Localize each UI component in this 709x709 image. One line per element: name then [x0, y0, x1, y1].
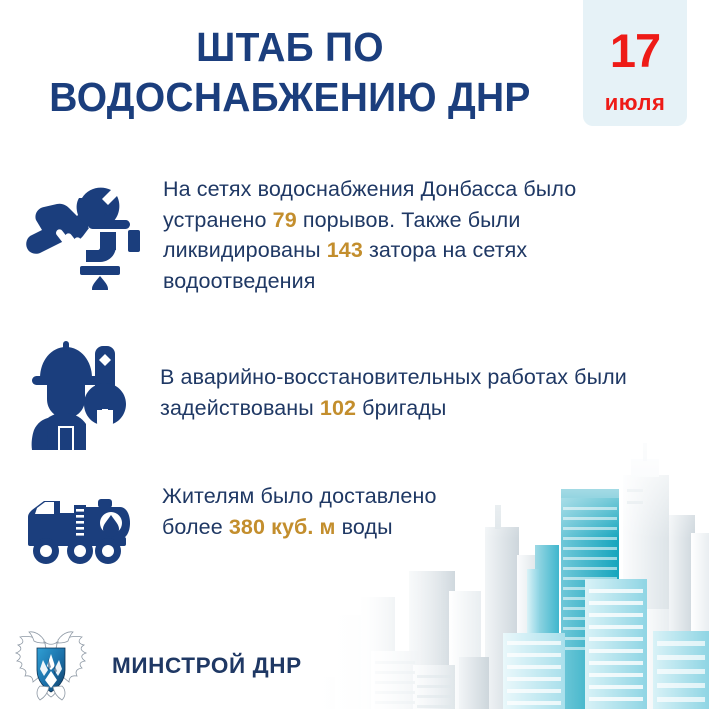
stat-row-brigades: В аварийно-восстановительных работах был… [22, 338, 709, 455]
footer: МИНСТРОЙ ДНР [12, 624, 302, 707]
stat-value: 79 [273, 208, 297, 232]
date-month: июля [583, 92, 687, 114]
dnr-coat-of-arms-icon [12, 624, 90, 707]
page-title-line-1: ШТАБ ПО [15, 22, 566, 72]
hand-wrench-faucet-icon [14, 168, 142, 295]
stat-row-repairs: На сетях водоснабжения Донбасса было уст… [14, 168, 704, 296]
stat-value: 143 [327, 238, 363, 262]
stat-row-repairs-text: На сетях водоснабжения Донбасса было уст… [163, 174, 663, 296]
footer-label: МИНСТРОЙ ДНР [112, 653, 302, 679]
date-badge: 17 июля [583, 0, 687, 126]
infographic-poster: 17 июля ШТАБ ПО ВОДОСНАБЖЕНИЮ ДНР [0, 0, 709, 709]
stat-value: 102 [320, 396, 356, 420]
stat-row-brigades-text: В аварийно-восстановительных работах был… [160, 362, 695, 423]
page-title-line-2: ВОДОСНАБЖЕНИЮ ДНР [15, 72, 566, 122]
water-tanker-truck-icon [24, 487, 134, 572]
stat-text: бригады [356, 396, 446, 420]
stat-row-water-delivered-text: Жителям было доставлено более 380 куб. м… [162, 481, 462, 542]
stat-row-water-delivered: Жителям было доставлено более 380 куб. м… [24, 487, 709, 572]
stat-text: воды [336, 515, 393, 539]
date-day: 17 [583, 27, 687, 74]
page-title: ШТАБ ПО ВОДОСНАБЖЕНИЮ ДНР [15, 22, 566, 122]
worker-wrench-icon [22, 338, 132, 455]
stat-value: 380 куб. м [229, 515, 336, 539]
